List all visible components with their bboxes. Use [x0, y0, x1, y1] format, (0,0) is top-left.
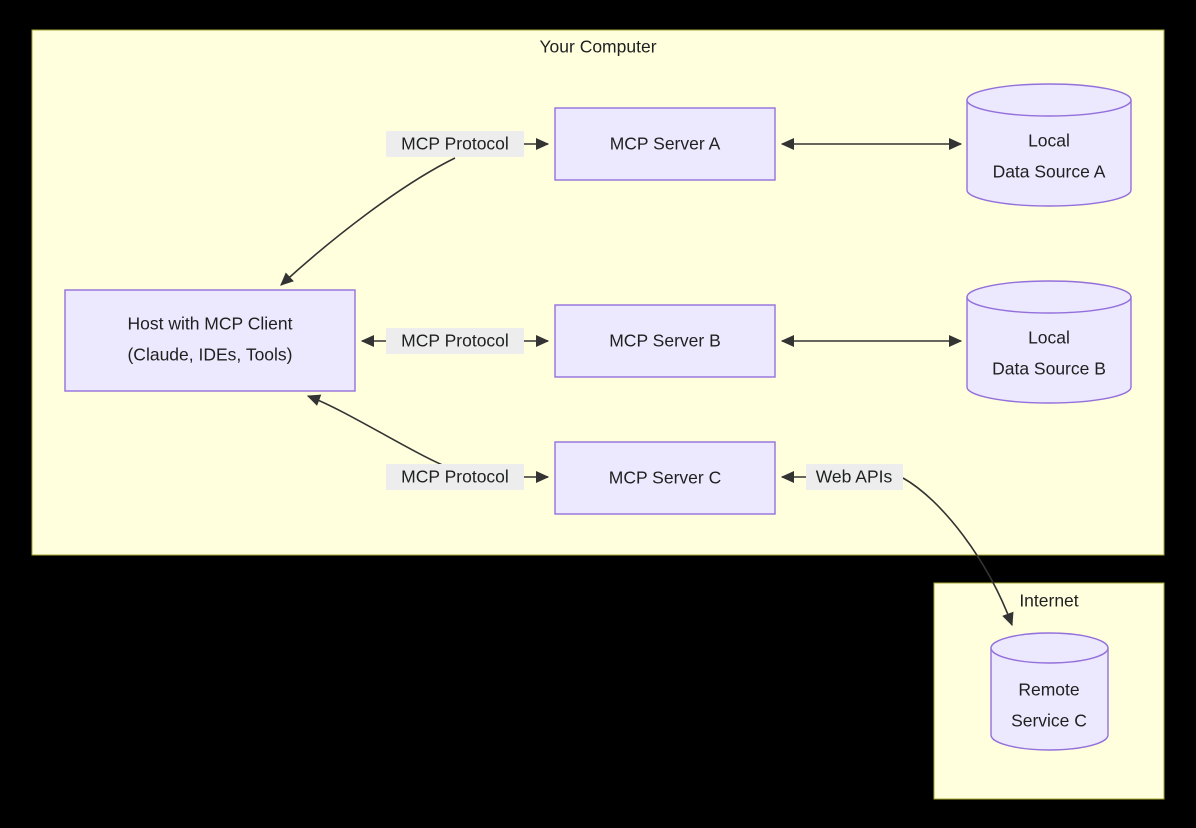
node-data-source-b[interactable]: Local Data Source B [967, 281, 1131, 403]
edge-label-host-to-server-b-text: MCP Protocol [401, 331, 509, 351]
edge-label-host-to-server-a-text: MCP Protocol [401, 134, 509, 154]
node-host[interactable]: Host with MCP Client (Claude, IDEs, Tool… [65, 290, 355, 391]
node-server-b-label: MCP Server B [609, 331, 721, 351]
node-host-rect [65, 290, 355, 391]
node-remote-service-c[interactable]: Remote Service C [991, 633, 1108, 750]
node-server-c[interactable]: MCP Server C [555, 442, 775, 514]
edge-label-server-c-to-remote-c-text: Web APIs [816, 467, 893, 487]
node-data-source-b-label-line2: Data Source B [992, 359, 1106, 379]
node-remote-service-c-label-line1: Remote [1018, 680, 1079, 700]
node-remote-service-c-label-line2: Service C [1011, 711, 1087, 731]
edge-label-host-to-server-c: MCP Protocol [386, 464, 524, 490]
node-server-b[interactable]: MCP Server B [555, 305, 775, 377]
node-host-label-line1: Host with MCP Client [127, 314, 292, 334]
edge-label-host-to-server-c-text: MCP Protocol [401, 467, 509, 487]
node-server-c-label: MCP Server C [609, 468, 721, 488]
node-data-source-a-label-line1: Local [1028, 131, 1070, 151]
mcp-architecture-diagram: Your Computer Internet [0, 0, 1196, 828]
node-remote-service-c-top [991, 633, 1108, 663]
node-host-label-line2: (Claude, IDEs, Tools) [127, 345, 292, 365]
subgraph-internet-title: Internet [1019, 591, 1078, 611]
edge-label-host-to-server-a: MCP Protocol [386, 131, 524, 157]
node-data-source-b-top [967, 281, 1131, 313]
diagram-canvas: Your Computer Internet [0, 0, 1196, 828]
node-data-source-a[interactable]: Local Data Source A [967, 84, 1131, 206]
node-data-source-a-top [967, 84, 1131, 116]
edge-label-host-to-server-b: MCP Protocol [386, 328, 524, 354]
edge-label-server-c-to-remote-c: Web APIs [806, 464, 903, 490]
node-data-source-b-label-line1: Local [1028, 328, 1070, 348]
subgraph-your-computer-title: Your Computer [539, 37, 656, 57]
node-data-source-a-label-line2: Data Source A [993, 162, 1106, 182]
node-server-a-label: MCP Server A [610, 134, 721, 154]
node-server-a[interactable]: MCP Server A [555, 108, 775, 180]
